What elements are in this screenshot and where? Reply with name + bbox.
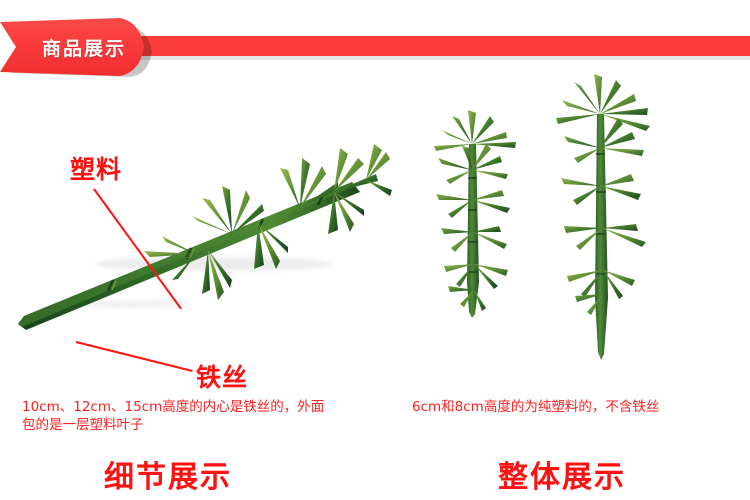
banner-title: 商品展示 [0, 18, 160, 76]
annotation-label-wire: 铁丝 [196, 358, 248, 394]
banner-stripe [118, 36, 750, 56]
left-caption-text: 10cm、12cm、15cm高度的内心是铁丝的，外面 包的是一层塑料叶子 [22, 398, 372, 434]
right-photo-panel [400, 82, 750, 382]
bamboo-stem-tall [556, 74, 650, 360]
section-banner: 商品展示 [0, 18, 750, 80]
annotation-label-plastic: 塑料 [70, 150, 122, 186]
bamboo-stem [18, 182, 360, 330]
banner-stripe-shadow [118, 56, 750, 60]
left-photo-panel [0, 82, 390, 382]
product-display-page: 商品展示 [0, 0, 750, 500]
bamboo-detail-photo [0, 82, 390, 382]
bamboo-stem-short [434, 110, 516, 318]
right-section-heading: 整体展示 [498, 452, 626, 496]
left-section-heading: 细节展示 [104, 452, 232, 496]
bamboo-whole-photo [400, 82, 750, 382]
right-caption-text: 6cm和8cm高度的为纯塑料的，不含铁丝 [412, 398, 742, 416]
